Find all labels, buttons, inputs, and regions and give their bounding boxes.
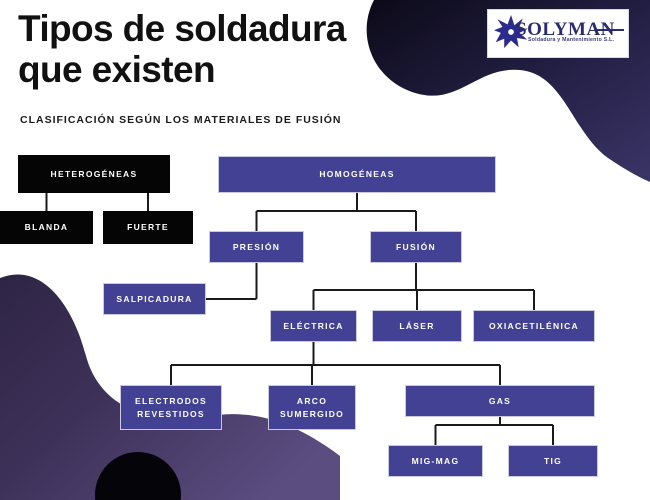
node-homogeneas: HOMOGÉNEAS [218,156,496,193]
node-gas: GAS [405,385,595,417]
node-electrodos: ELECTRODOS REVESTIDOS [120,385,222,430]
node-label: TIG [544,455,562,467]
node-label: MIG-MAG [412,455,460,467]
node-label: HOMOGÉNEAS [319,168,394,180]
node-label: OXIACETILÉNICA [489,320,579,332]
node-label: ARCO SUMERGIDO [280,395,344,420]
node-heterogeneas: HETEROGÉNEAS [18,155,170,193]
node-label: FUERTE [127,221,169,233]
node-tig: TIG [508,445,598,477]
node-migmag: MIG-MAG [388,445,483,477]
node-arco: ARCO SUMERGIDO [268,385,356,430]
node-salpicadura: SALPICADURA [103,283,206,315]
node-blanda: BLANDA [0,211,93,244]
node-label: BLANDA [25,221,69,233]
node-label: HETEROGÉNEAS [51,168,138,180]
node-label: ELÉCTRICA [283,320,343,332]
node-electrica: ELÉCTRICA [270,310,357,342]
node-label: FUSIÓN [396,241,436,253]
node-label: SALPICADURA [116,293,192,305]
node-fusion: FUSIÓN [370,231,462,263]
node-oxiacetilenica: OXIACETILÉNICA [473,310,595,342]
node-fuerte: FUERTE [103,211,193,244]
node-label: LÁSER [399,320,434,332]
node-label: ELECTRODOS REVESTIDOS [135,395,207,420]
node-presion: PRESIÓN [209,231,304,263]
infographic-canvas: Tipos de soldadura que existen CLASIFICA… [0,0,650,500]
node-label: PRESIÓN [233,241,280,253]
node-laser: LÁSER [372,310,462,342]
node-label: GAS [489,395,511,407]
welding-types-flowchart: HETEROGÉNEASBLANDAFUERTEHOMOGÉNEASPRESIÓ… [0,0,650,500]
